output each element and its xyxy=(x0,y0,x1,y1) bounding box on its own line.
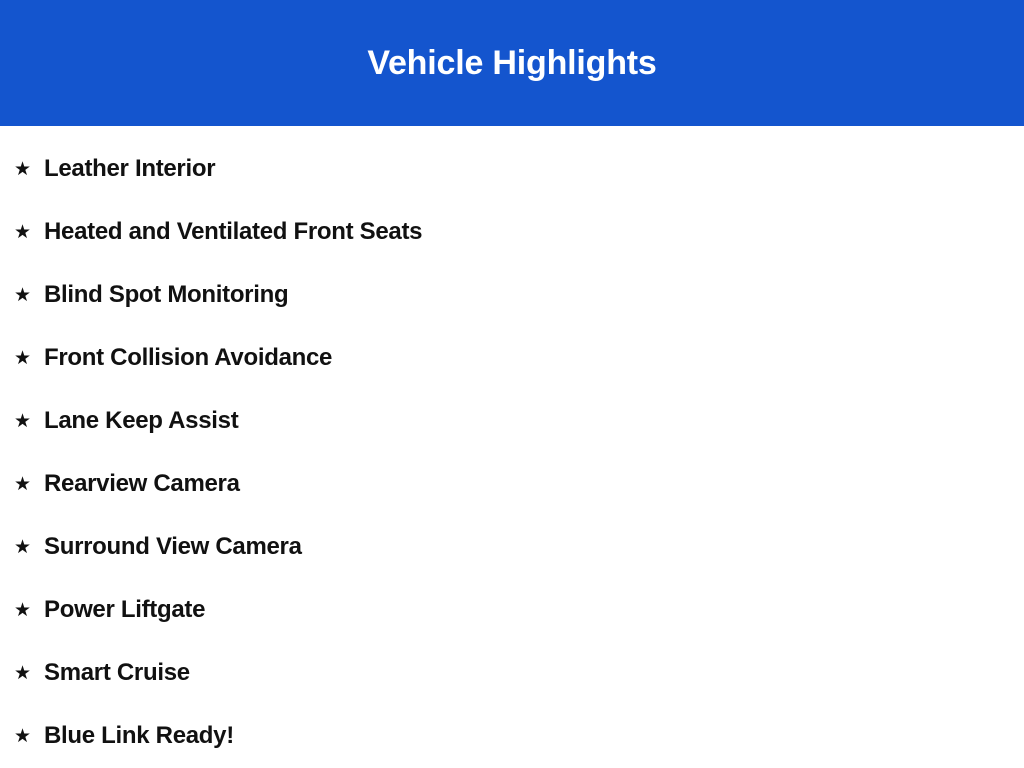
list-item-label: Surround View Camera xyxy=(44,534,302,560)
list-item: ★ Leather Interior xyxy=(0,138,1024,201)
star-icon: ★ xyxy=(14,727,44,746)
list-item: ★ Front Collision Avoidance xyxy=(0,327,1024,390)
star-icon: ★ xyxy=(14,538,44,557)
star-icon: ★ xyxy=(14,601,44,620)
list-item: ★ Smart Cruise xyxy=(0,642,1024,705)
page-title: Vehicle Highlights xyxy=(367,46,656,80)
list-item: ★ Blue Link Ready! xyxy=(0,705,1024,768)
list-item: ★ Surround View Camera xyxy=(0,516,1024,579)
star-icon: ★ xyxy=(14,475,44,494)
list-item-label: Blue Link Ready! xyxy=(44,723,234,749)
list-item-label: Smart Cruise xyxy=(44,660,190,686)
vehicle-highlights-list: ★ Leather Interior ★ Heated and Ventilat… xyxy=(0,126,1024,768)
list-item-label: Power Liftgate xyxy=(44,597,205,623)
list-item: ★ Rearview Camera xyxy=(0,453,1024,516)
list-item: ★ Blind Spot Monitoring xyxy=(0,264,1024,327)
list-item-label: Rearview Camera xyxy=(44,471,240,497)
list-item-label: Heated and Ventilated Front Seats xyxy=(44,219,422,245)
list-item-label: Front Collision Avoidance xyxy=(44,345,332,371)
star-icon: ★ xyxy=(14,412,44,431)
list-item-label: Blind Spot Monitoring xyxy=(44,282,288,308)
list-item: ★ Power Liftgate xyxy=(0,579,1024,642)
page-header: Vehicle Highlights xyxy=(0,0,1024,126)
list-item-label: Lane Keep Assist xyxy=(44,408,238,434)
star-icon: ★ xyxy=(14,664,44,683)
star-icon: ★ xyxy=(14,223,44,242)
star-icon: ★ xyxy=(14,286,44,305)
vehicle-highlights-page: Vehicle Highlights ★ Leather Interior ★ … xyxy=(0,0,1024,768)
list-item: ★ Lane Keep Assist xyxy=(0,390,1024,453)
list-item: ★ Heated and Ventilated Front Seats xyxy=(0,201,1024,264)
star-icon: ★ xyxy=(14,160,44,179)
list-item-label: Leather Interior xyxy=(44,156,215,182)
star-icon: ★ xyxy=(14,349,44,368)
